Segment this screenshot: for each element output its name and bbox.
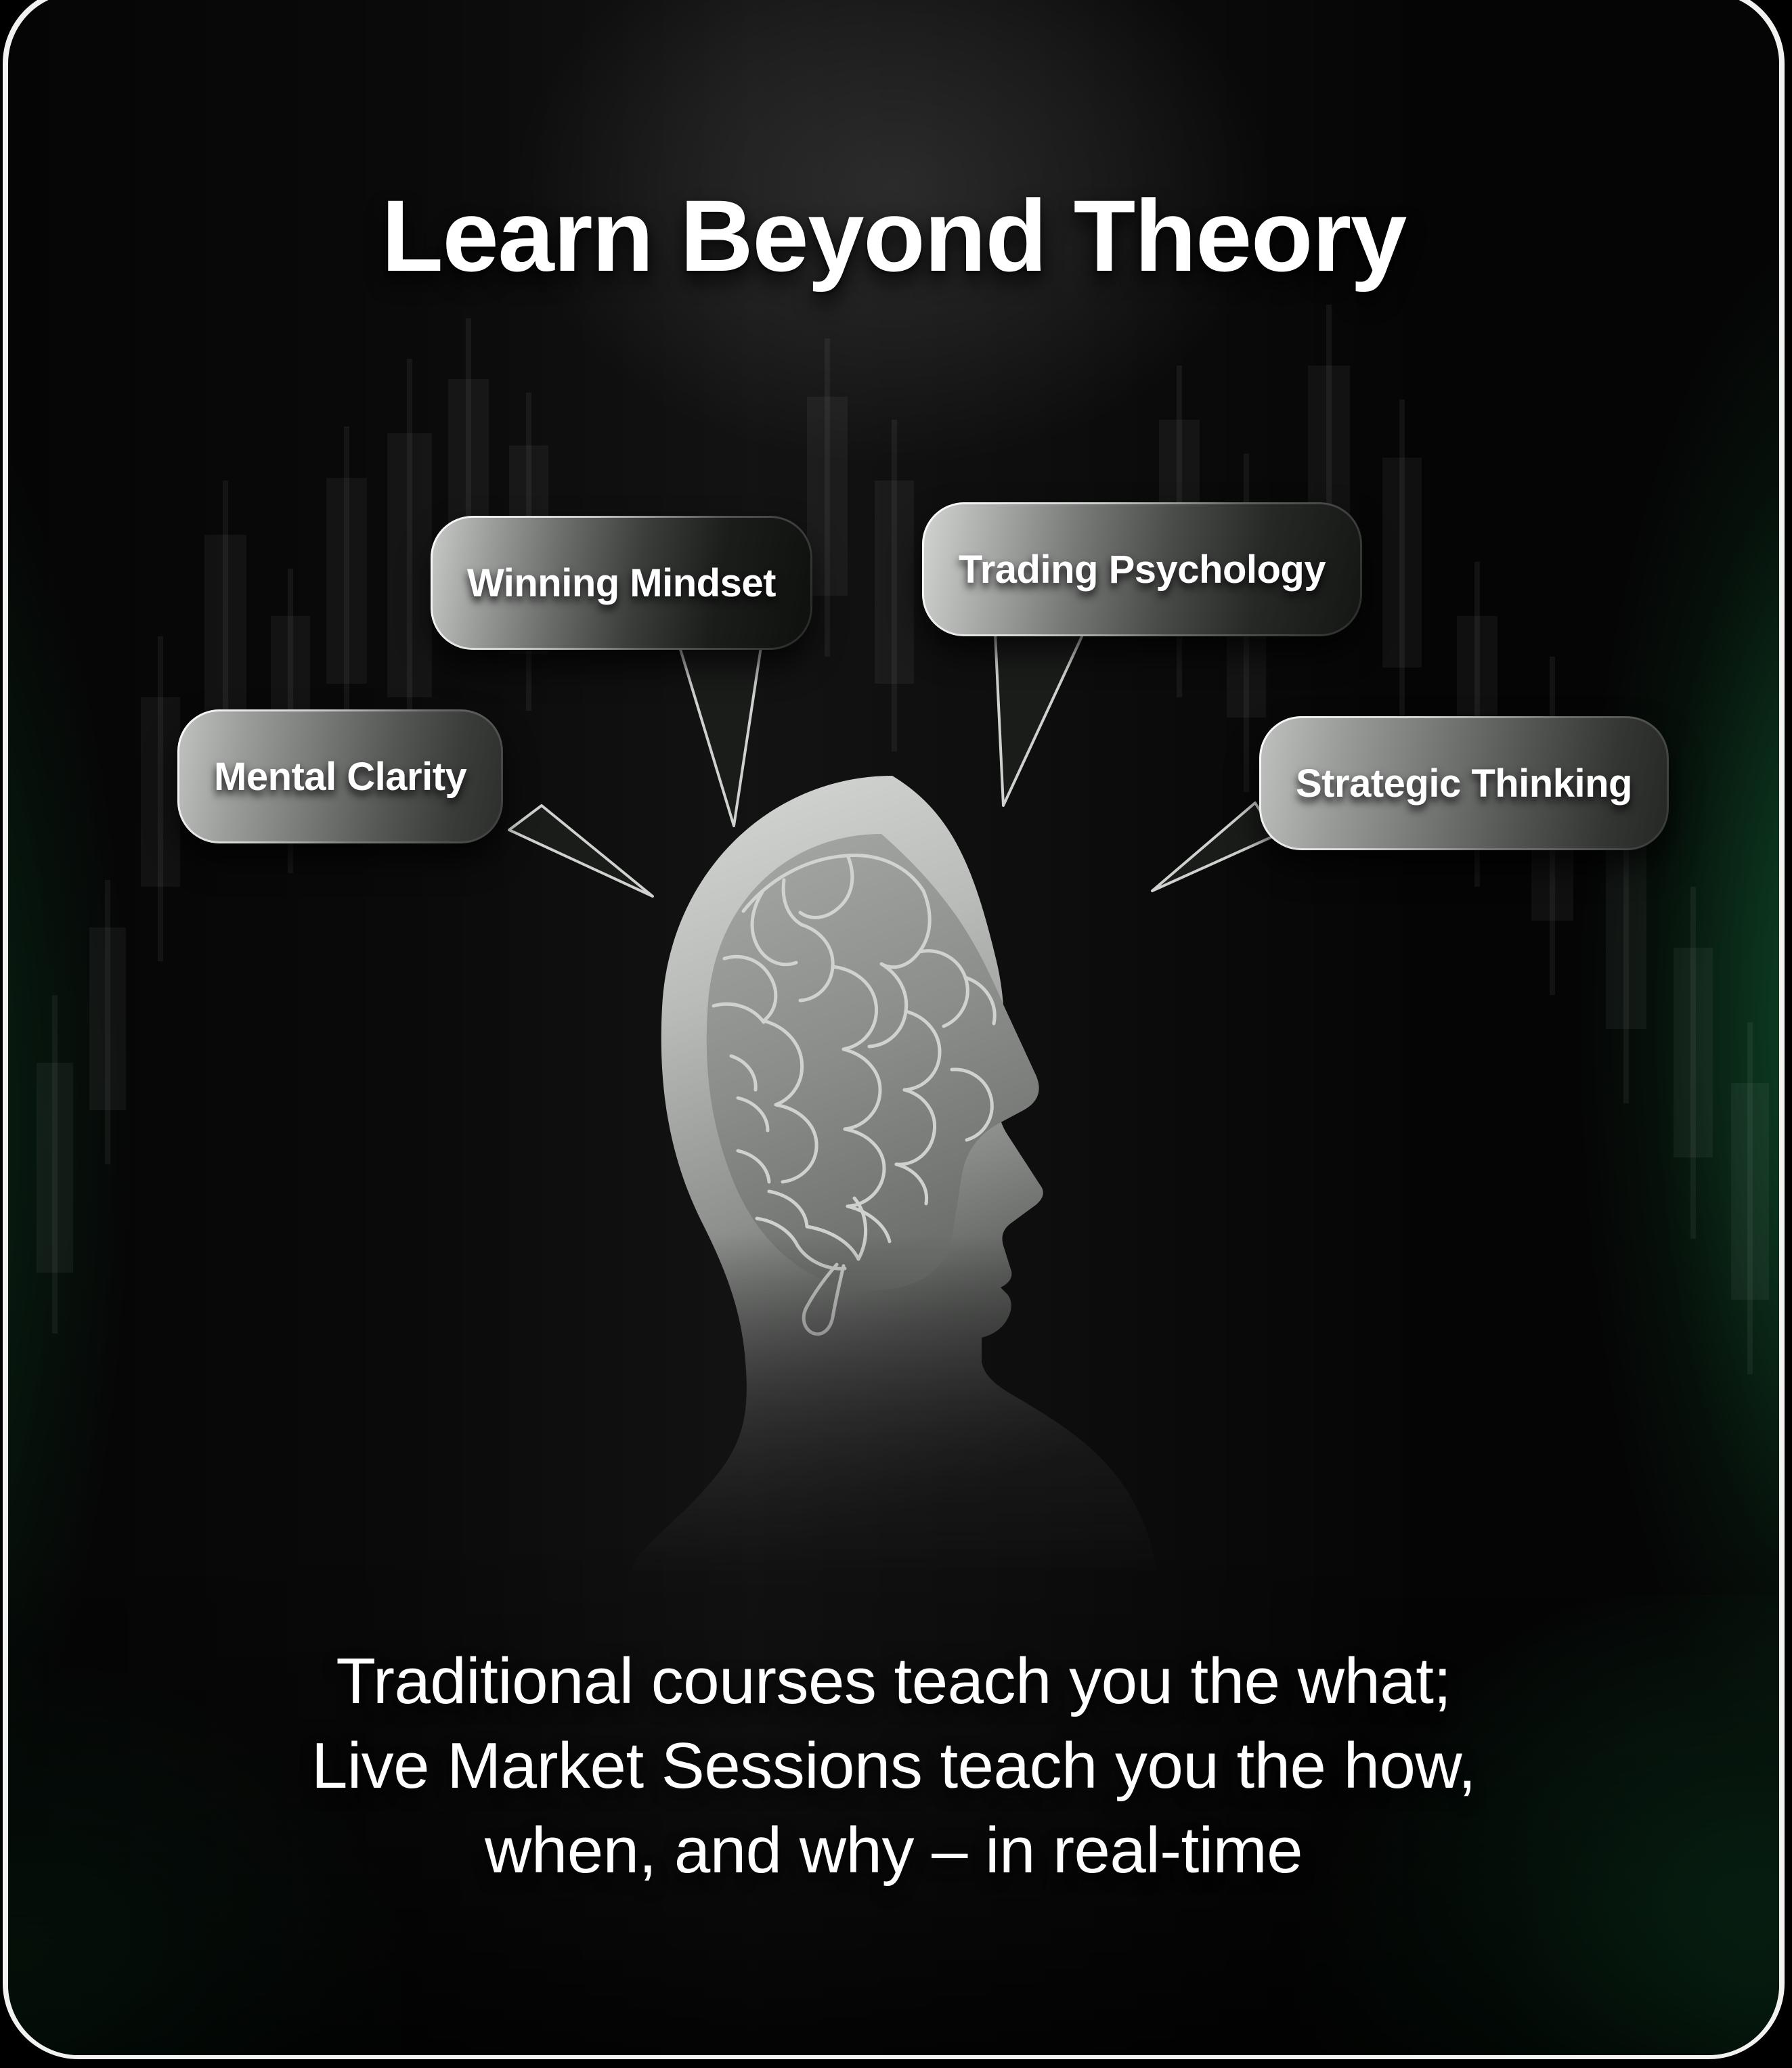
- bubble-label: Trading Psychology: [959, 547, 1326, 592]
- head-with-brain-icon: [630, 772, 1158, 1570]
- learn-beyond-theory-card: Learn Beyond Theory: [8, 0, 1779, 2055]
- bubble-trading-psychology[interactable]: Trading Psychology: [922, 502, 1362, 636]
- caption-line-1: Traditional courses teach you the what;: [156, 1640, 1632, 1724]
- bubble-mental-clarity[interactable]: Mental Clarity: [177, 709, 503, 843]
- caption-line-2: Live Market Sessions teach you the how,: [156, 1724, 1632, 1809]
- bubble-label: Winning Mindset: [467, 560, 776, 606]
- caption-line-3: when, and why – in real-time: [156, 1809, 1632, 1893]
- screenshot-frame: Learn Beyond Theory: [0, 0, 1792, 2068]
- bubble-winning-mindset[interactable]: Winning Mindset: [431, 516, 812, 650]
- bubble-strategic-thinking[interactable]: Strategic Thinking: [1259, 716, 1669, 850]
- bubble-label: Strategic Thinking: [1296, 761, 1632, 806]
- card-caption: Traditional courses teach you the what; …: [156, 1640, 1632, 1893]
- bubble-label: Mental Clarity: [214, 754, 466, 799]
- tail-strategic-thinking: [1152, 803, 1275, 891]
- page-title: Learn Beyond Theory: [8, 177, 1779, 294]
